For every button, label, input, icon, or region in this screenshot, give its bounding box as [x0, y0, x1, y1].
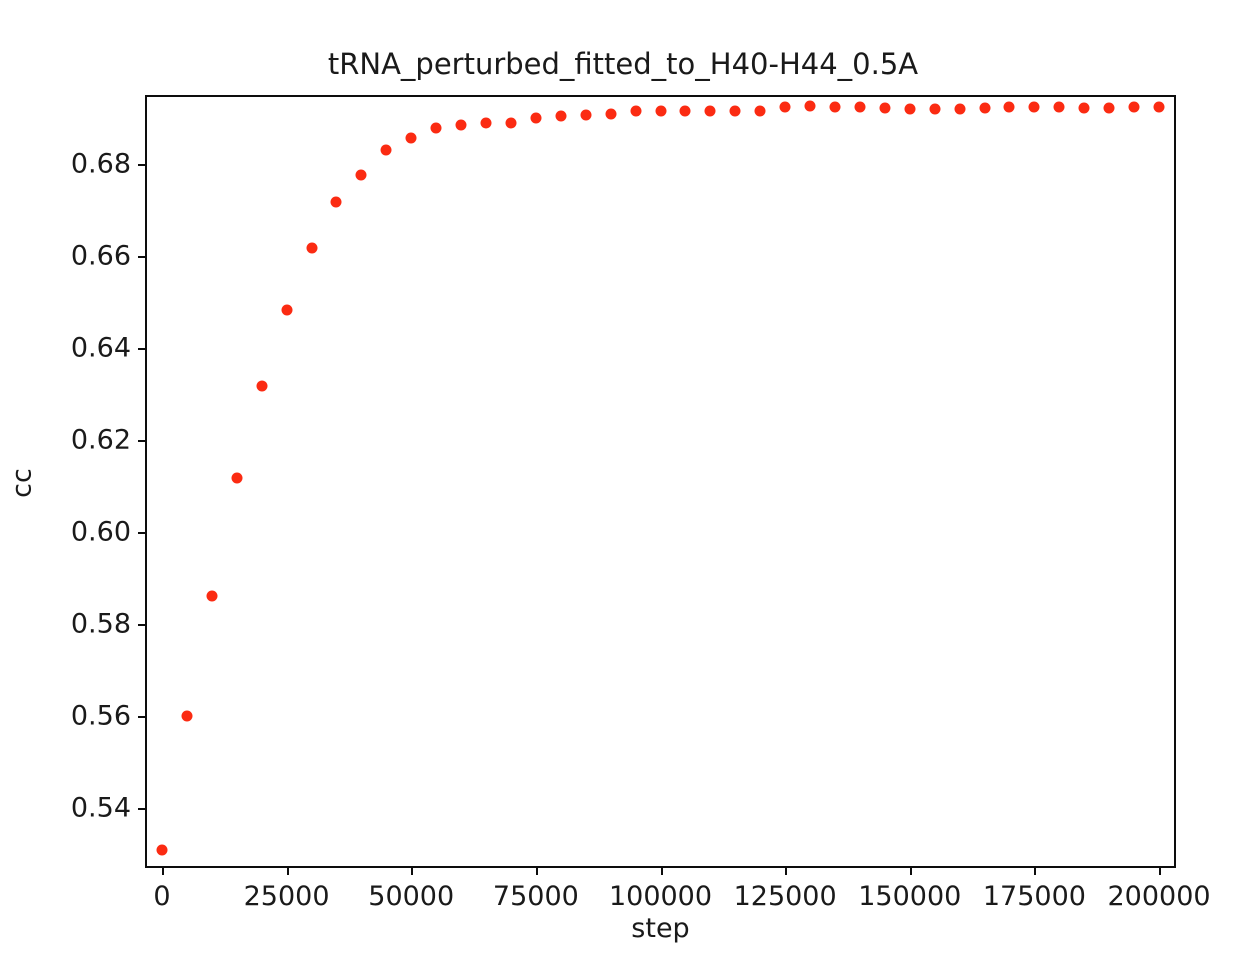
x-axis-tick — [287, 866, 289, 875]
y-axis-tick — [138, 348, 147, 350]
data-point — [854, 102, 865, 113]
data-point — [1154, 102, 1165, 113]
y-axis-label: cc — [7, 468, 38, 498]
data-point — [406, 133, 417, 144]
x-axis-tick-label: 125000 — [734, 881, 837, 912]
data-point — [456, 120, 467, 131]
scatter-series — [147, 97, 1174, 866]
y-axis-tick — [138, 532, 147, 534]
x-axis-tick — [1159, 866, 1161, 875]
data-point — [954, 104, 965, 115]
y-axis-tick-label: 0.68 — [71, 148, 131, 179]
y-axis-tick — [138, 808, 147, 810]
x-axis-tick — [1034, 866, 1036, 875]
data-point — [555, 111, 566, 122]
data-point — [181, 710, 192, 721]
data-point — [680, 106, 691, 117]
x-axis-tick — [910, 866, 912, 875]
data-point — [206, 591, 217, 602]
data-point — [481, 118, 492, 129]
data-point — [580, 109, 591, 120]
plot-axes: 0.540.560.580.600.620.640.660.6802500050… — [145, 95, 1176, 868]
y-axis-tick-label: 0.58 — [71, 609, 131, 640]
data-point — [780, 102, 791, 113]
x-axis-label: step — [145, 913, 1176, 944]
data-point — [705, 106, 716, 117]
x-axis-tick — [411, 866, 413, 875]
x-axis-tick — [536, 866, 538, 875]
y-axis-tick — [138, 256, 147, 258]
x-axis-tick-label: 0 — [153, 881, 170, 912]
data-point — [979, 102, 990, 113]
data-point — [331, 196, 342, 207]
data-point — [530, 113, 541, 124]
x-axis-tick — [785, 866, 787, 875]
data-point — [1029, 101, 1040, 112]
y-axis-tick — [138, 624, 147, 626]
data-point — [505, 117, 516, 128]
data-point — [904, 103, 915, 114]
x-axis-tick — [661, 866, 663, 875]
x-axis-tick-label: 75000 — [493, 881, 579, 912]
x-axis-tick-label: 100000 — [609, 881, 712, 912]
y-axis-tick-label: 0.62 — [71, 425, 131, 456]
data-point — [281, 305, 292, 316]
data-point — [929, 104, 940, 115]
data-point — [306, 243, 317, 254]
x-axis-tick-label: 150000 — [858, 881, 961, 912]
x-axis-tick — [162, 866, 164, 875]
y-axis-tick-label: 0.66 — [71, 240, 131, 271]
y-axis-tick-label: 0.54 — [71, 793, 131, 824]
y-axis-tick-label: 0.64 — [71, 332, 131, 363]
data-point — [1104, 102, 1115, 113]
data-point — [879, 102, 890, 113]
data-point — [605, 109, 616, 120]
data-point — [381, 145, 392, 156]
x-axis-tick-label: 50000 — [368, 881, 454, 912]
data-point — [356, 169, 367, 180]
data-point — [231, 472, 242, 483]
data-point — [431, 123, 442, 134]
y-axis-tick-label: 0.56 — [71, 701, 131, 732]
data-point — [1129, 102, 1140, 113]
data-point — [630, 106, 641, 117]
x-axis-tick-label: 175000 — [983, 881, 1086, 912]
y-axis-tick-label: 0.60 — [71, 517, 131, 548]
x-axis-tick-label: 200000 — [1107, 881, 1210, 912]
data-point — [655, 105, 666, 116]
y-axis-tick — [138, 440, 147, 442]
data-point — [829, 101, 840, 112]
y-axis-tick — [138, 716, 147, 718]
data-point — [256, 381, 267, 392]
data-point — [1079, 102, 1090, 113]
page-title: tRNA_perturbed_fitted_to_H40-H44_0.5A — [0, 47, 1246, 81]
data-point — [156, 844, 167, 855]
matplotlib-figure: tRNA_perturbed_fitted_to_H40-H44_0.5A cc… — [0, 0, 1246, 965]
data-point — [730, 105, 741, 116]
data-point — [1054, 102, 1065, 113]
y-axis-tick — [138, 164, 147, 166]
data-point — [755, 105, 766, 116]
data-point — [805, 101, 816, 112]
x-axis-tick-label: 25000 — [244, 881, 330, 912]
data-point — [1004, 102, 1015, 113]
